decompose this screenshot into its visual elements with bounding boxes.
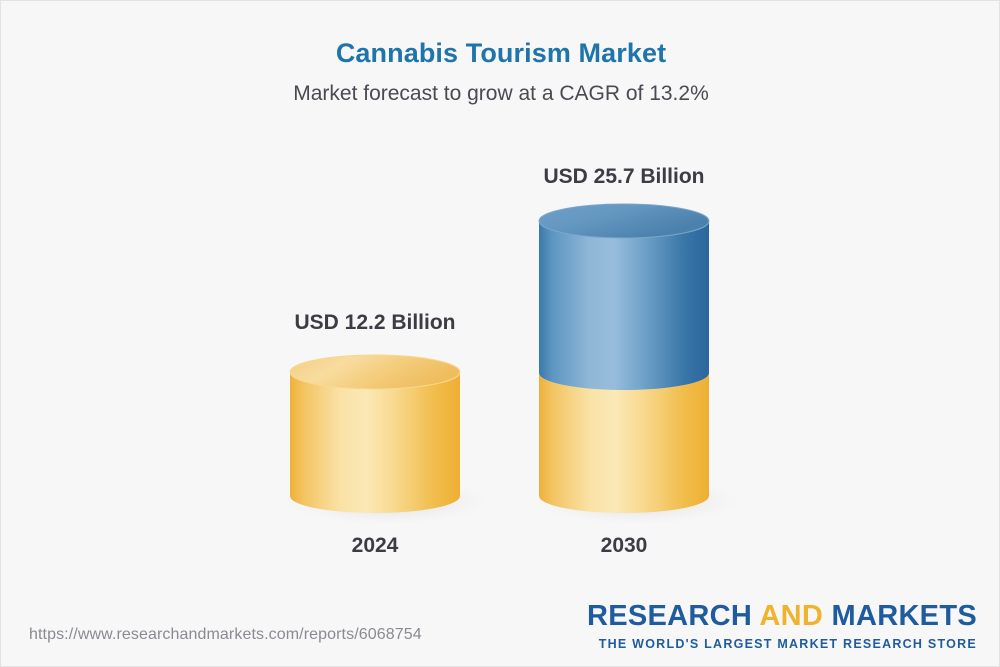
infographic-canvas: Cannabis Tourism Market Market forecast … xyxy=(0,0,1000,667)
bar-segment-blue-2030 xyxy=(539,221,709,390)
source-url-link[interactable]: https://www.researchandmarkets.com/repor… xyxy=(29,626,422,644)
logo-word-markets: MARKETS xyxy=(832,600,978,632)
value-label-2030: USD 25.7 Billion xyxy=(524,165,724,189)
bar-body-2024 xyxy=(290,372,460,513)
category-label-2024: 2024 xyxy=(275,534,475,558)
logo-tagline: THE WORLD'S LARGEST MARKET RESEARCH STOR… xyxy=(587,638,977,651)
logo-word-and: AND xyxy=(759,600,831,632)
chart-plot-area: USD 12.2 Billion USD 25.7 Billion 2024 2… xyxy=(1,1,1000,667)
category-label-2030: 2030 xyxy=(524,534,724,558)
logo-wordmark: RESEARCH AND MARKETS xyxy=(587,602,977,631)
bar-cylinder-2030[interactable] xyxy=(539,204,709,513)
cylinder-chart-svg xyxy=(1,1,1000,667)
logo-word-research: RESEARCH xyxy=(587,600,759,632)
value-label-2024: USD 12.2 Billion xyxy=(275,311,475,335)
bar-cylinder-2024[interactable] xyxy=(290,355,460,513)
research-and-markets-logo[interactable]: RESEARCH AND MARKETS THE WORLD'S LARGEST… xyxy=(587,602,977,651)
bar-segment-yellow-2030 xyxy=(539,373,709,513)
